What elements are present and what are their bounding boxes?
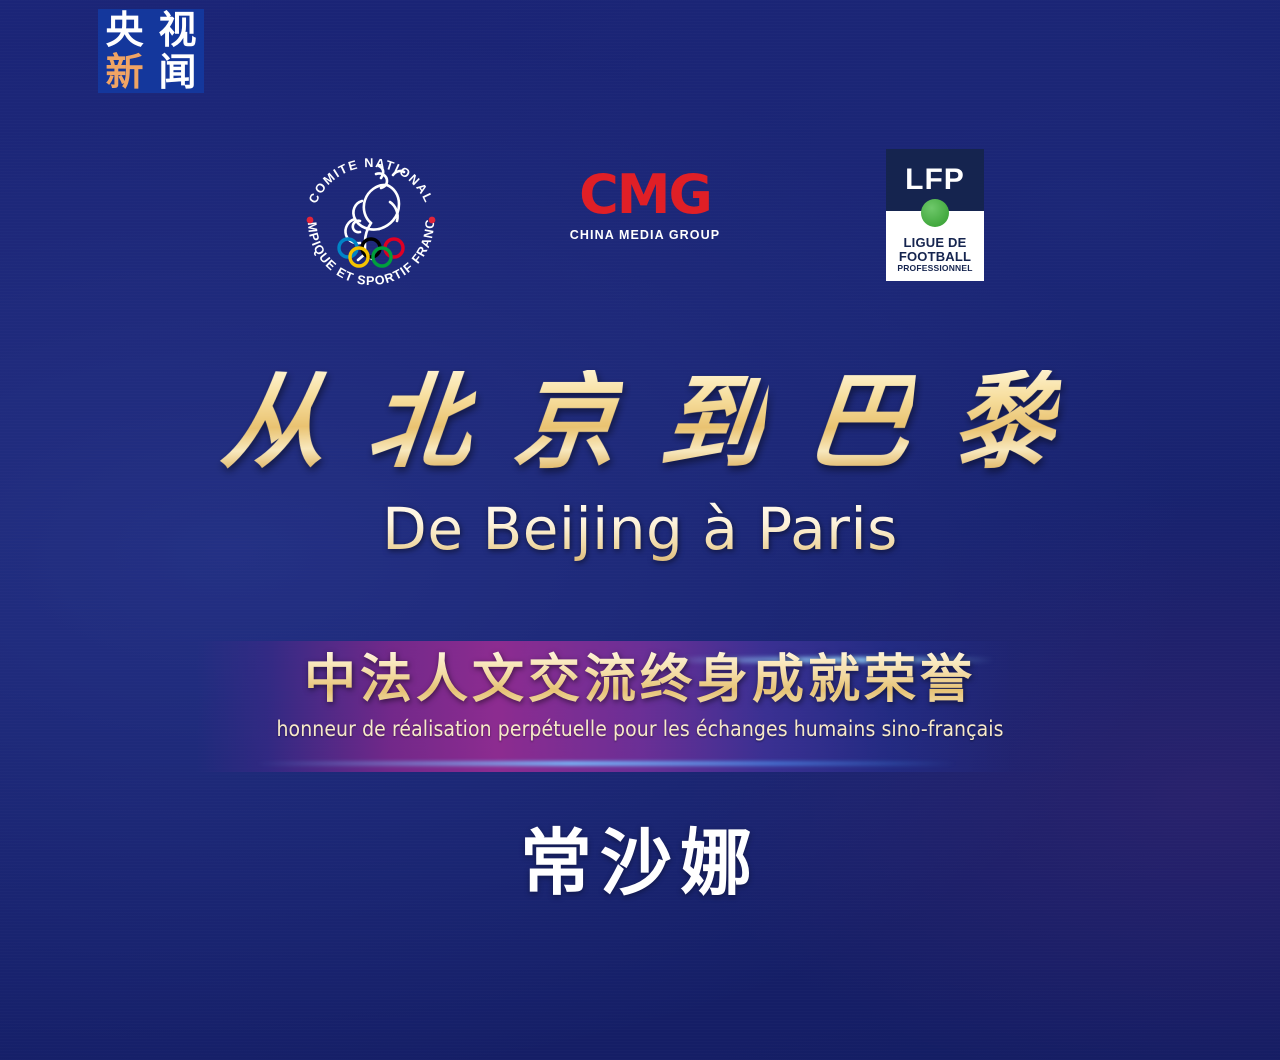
poster-canvas: 央 视 新 闻 COMITE NATIONAL OLYMPIQUE ET SPO… bbox=[0, 0, 1280, 1060]
cctv-news-logo: 央 视 新 闻 bbox=[98, 9, 204, 93]
calligraphy-char-3: 京 bbox=[510, 370, 625, 474]
calligraphy-char-5: 巴 bbox=[802, 370, 917, 474]
rooster-icon bbox=[345, 166, 404, 260]
lfp-line-3: PROFESSIONNEL bbox=[897, 264, 972, 273]
lfp-wordmark: LFP bbox=[905, 165, 965, 195]
olympic-rings-icon bbox=[339, 239, 403, 266]
calligraphy-char-2: 北 bbox=[364, 370, 479, 474]
honor-banner-content: 中法人文交流终身成就荣誉 honneur de réalisation perp… bbox=[196, 641, 1084, 741]
cmg-wordmark: CMG bbox=[556, 168, 734, 222]
calligraphy-char-6: 黎 bbox=[948, 370, 1063, 474]
banner-underline-glow bbox=[256, 761, 956, 766]
cctv-logo-char-3: 新 bbox=[105, 53, 143, 91]
cnosf-logo: COMITE NATIONAL OLYMPIQUE ET SPORTIF FRA… bbox=[292, 148, 450, 288]
cctv-logo-char-4: 闻 bbox=[158, 53, 196, 91]
french-title: De Beijing à Paris bbox=[0, 495, 1280, 565]
cctv-logo-char-2: 视 bbox=[158, 11, 196, 49]
lfp-ball-icon bbox=[921, 199, 949, 227]
cmg-subtitle: CHINA MEDIA GROUP bbox=[556, 228, 734, 242]
honor-title-chinese: 中法人文交流终身成就荣誉 bbox=[196, 651, 1084, 711]
honor-title-french: honneur de réalisation perpétuelle pour … bbox=[240, 717, 1039, 741]
cnosf-emblem-icon: COMITE NATIONAL OLYMPIQUE ET SPORTIF FRA… bbox=[292, 148, 450, 288]
cctv-logo-char-1: 央 bbox=[105, 11, 143, 49]
cmg-logo: CMG CHINA MEDIA GROUP bbox=[556, 168, 734, 246]
lfp-line-2: FOOTBALL bbox=[899, 250, 971, 264]
svg-text:COMITE NATIONAL: COMITE NATIONAL bbox=[306, 156, 436, 206]
lfp-line-1: LIGUE DE bbox=[904, 236, 967, 250]
sponsor-logo-row: COMITE NATIONAL OLYMPIQUE ET SPORTIF FRA… bbox=[0, 140, 1280, 295]
calligraphy-char-4: 到 bbox=[656, 370, 771, 474]
honoree-name: 常沙娜 bbox=[0, 824, 1280, 903]
honor-banner: 中法人文交流终身成就荣誉 honneur de réalisation perp… bbox=[196, 641, 1084, 772]
lfp-logo: LFP LIGUE DE FOOTBALL PROFESSIONNEL bbox=[886, 149, 984, 281]
calligraphy-char-1: 从 bbox=[217, 370, 332, 474]
calligraphy-title: 从 北 京 到 巴 黎 bbox=[0, 352, 1280, 492]
